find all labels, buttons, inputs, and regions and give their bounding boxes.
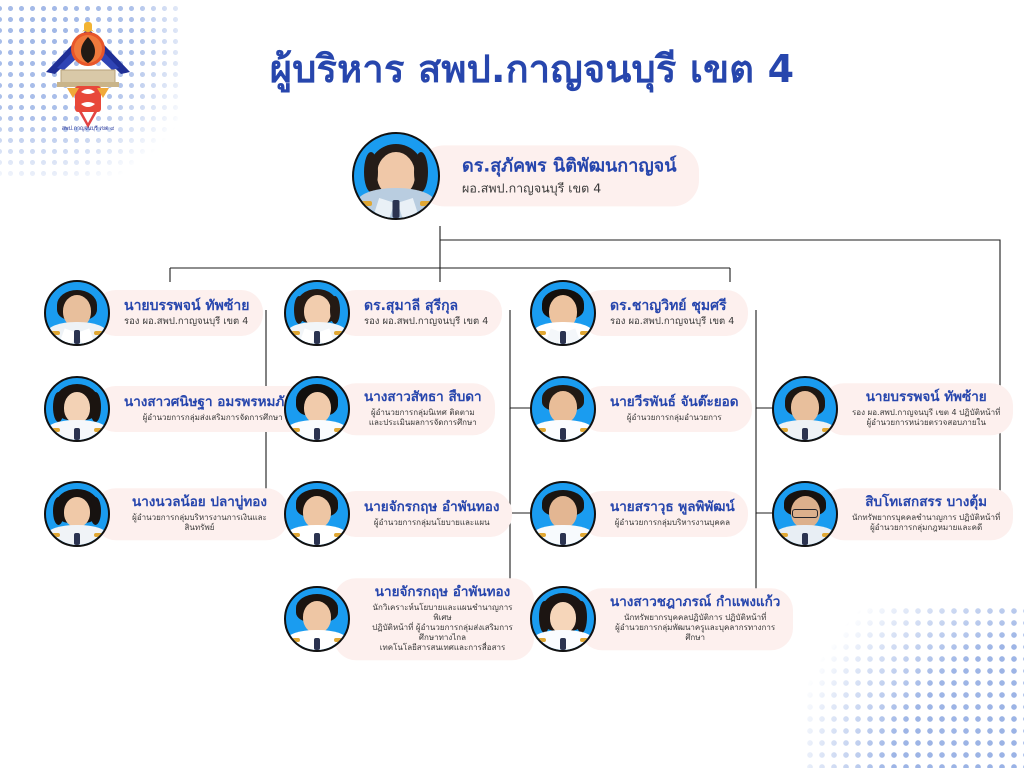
column-d-2-plate: สิบโทเสกสรร บางตุ้ม นักทรัพยากรบุคคลชำนา… bbox=[822, 488, 1013, 540]
page-title: ผู้บริหาร สพป.กาญจนบุรี เขต 4 bbox=[0, 38, 1024, 99]
column-b-1-photo bbox=[284, 376, 350, 442]
leader-card[interactable]: ดร.สุภัคพร นิติพัฒนกาญจน์ ผอ.สพป.กาญจนบุ… bbox=[352, 130, 692, 222]
column-d-2-photo bbox=[772, 481, 838, 547]
column-a-1-name: นางสาวศนิษฐา อมรพรหมภักดี bbox=[124, 395, 301, 411]
column-b-1-role: ผู้อำนวยการกลุ่มนิเทศ ติดตาม และประเมินผ… bbox=[369, 408, 477, 428]
column-a-2-role: ผู้อำนวยการกลุ่มบริหารงานการเงินและสินทร… bbox=[124, 513, 275, 533]
column-c-1-photo bbox=[530, 376, 596, 442]
column-a-1-photo bbox=[44, 376, 110, 442]
deputy-3-photo bbox=[530, 280, 596, 346]
column-b-3-name: นายจักรกฤษ อำพันทอง bbox=[375, 585, 510, 601]
deputy-2-role: รอง ผอ.สพป.กาญจนบุรี เขต 4 bbox=[364, 316, 488, 328]
deputy-card-1[interactable]: นายบรรพจน์ ทัพซ้าย รอง ผอ.สพป.กาญจนบุรี … bbox=[44, 278, 280, 348]
column-c-1-plate: นายวีรพันธ์ จันต๊ะยอด ผู้อำนวยการกลุ่มอำ… bbox=[580, 386, 752, 432]
deputy-3-role: รอง ผอ.สพป.กาญจนบุรี เขต 4 bbox=[610, 316, 734, 328]
deputy-1-plate: นายบรรพจน์ ทัพซ้าย รอง ผอ.สพป.กาญจนบุรี … bbox=[94, 290, 263, 336]
deputy-3-name: ดร.ชาญวิทย์ ชุมศรี bbox=[610, 298, 734, 314]
column-c-2-plate: นายสราวุธ พูลพิพัฒน์ ผู้อำนวยการกลุ่มบริ… bbox=[580, 491, 748, 537]
column-d-2-name: สิบโทเสกสรร บางตุ้ม bbox=[865, 495, 987, 511]
column-c-2-name: นายสราวุธ พูลพิพัฒน์ bbox=[610, 500, 735, 516]
column-a-1-role: ผู้อำนวยการกลุ่มส่งเสริมการจัดการศึกษา bbox=[143, 413, 283, 423]
column-c-1-role: ผู้อำนวยการกลุ่มอำนวยการ bbox=[627, 413, 722, 423]
column-b-card-3[interactable]: นายจักรกฤษ อำพันทอง นักวิเคราะห์นโยบายแล… bbox=[284, 584, 534, 654]
column-c-card-2[interactable]: นายสราวุธ พูลพิพัฒน์ ผู้อำนวยการกลุ่มบริ… bbox=[530, 481, 774, 547]
column-c-3-role: นักทรัพยากรบุคคลปฏิบัติการ ปฏิบัติหน้าที… bbox=[610, 613, 780, 643]
column-a-2-photo bbox=[44, 481, 110, 547]
column-b-2-name: นายจักรกฤษ อำพันทอง bbox=[364, 500, 499, 516]
column-d-1-name: นายบรรพจน์ ทัพซ้าย bbox=[866, 390, 987, 406]
column-d-card-1[interactable]: นายบรรพจน์ ทัพซ้าย รอง ผอ.สพป.กาญจนบุรี … bbox=[772, 376, 1016, 442]
column-c-2-photo bbox=[530, 481, 596, 547]
column-a-1-plate: นางสาวศนิษฐา อมรพรหมภักดี ผู้อำนวยการกลุ… bbox=[94, 386, 314, 432]
column-c-card-3[interactable]: นางสาวชฎาภรณ์ กำแพงแก้ว นักทรัพยากรบุคคล… bbox=[530, 584, 780, 654]
svg-text:สพป.กาญจนบุรี เขต ๔: สพป.กาญจนบุรี เขต ๔ bbox=[62, 125, 115, 132]
column-a-card-2[interactable]: นางนวลน้อย ปลาบู่ทอง ผู้อำนวยการกลุ่มบริ… bbox=[44, 481, 288, 547]
column-c-card-1[interactable]: นายวีรพันธ์ จันต๊ะยอด ผู้อำนวยการกลุ่มอำ… bbox=[530, 376, 774, 442]
deputy-card-3[interactable]: ดร.ชาญวิทย์ ชุมศรี รอง ผอ.สพป.กาญจนบุรี … bbox=[530, 278, 756, 348]
column-d-2-role: นักทรัพยากรบุคคลชำนาญการ ปฏิบัติหน้าที่ … bbox=[852, 513, 1000, 533]
deputy-card-2[interactable]: ดร.สุมาลี สุรีกุล รอง ผอ.สพป.กาญจนบุรี เ… bbox=[284, 278, 510, 348]
org-chart-page: สพป.กาญจนบุรี เขต ๔ ผู้บริหาร สพป.กาญจนบ… bbox=[0, 0, 1024, 768]
column-c-3-photo bbox=[530, 586, 596, 652]
column-b-1-plate: นางสาวสัทธา สืบดา ผู้อำนวยการกลุ่มนิเทศ … bbox=[334, 383, 495, 435]
deputy-2-plate: ดร.สุมาลี สุรีกุล รอง ผอ.สพป.กาญจนบุรี เ… bbox=[334, 290, 502, 336]
column-b-2-role: ผู้อำนวยการกลุ่มนโยบายและแผน bbox=[374, 518, 490, 528]
leader-role: ผอ.สพป.กาญจนบุรี เขต 4 bbox=[462, 180, 677, 196]
column-b-2-plate: นายจักรกฤษ อำพันทอง ผู้อำนวยการกลุ่มนโยบ… bbox=[334, 491, 512, 537]
column-c-2-role: ผู้อำนวยการกลุ่มบริหารงานบุคคล bbox=[615, 518, 730, 528]
leader-photo bbox=[352, 132, 440, 220]
column-b-1-name: นางสาวสัทธา สืบดา bbox=[364, 390, 482, 406]
column-c-3-name: นางสาวชฎาภรณ์ กำแพงแก้ว bbox=[610, 595, 780, 611]
column-b-3-plate: นายจักรกฤษ อำพันทอง นักวิเคราะห์นโยบายแล… bbox=[334, 578, 534, 660]
deputy-1-photo bbox=[44, 280, 110, 346]
deputy-1-name: นายบรรพจน์ ทัพซ้าย bbox=[124, 298, 249, 314]
column-b-card-1[interactable]: นางสาวสัทธา สืบดา ผู้อำนวยการกลุ่มนิเทศ … bbox=[284, 374, 534, 444]
deputy-2-photo bbox=[284, 280, 350, 346]
column-b-card-2[interactable]: นายจักรกฤษ อำพันทอง ผู้อำนวยการกลุ่มนโยบ… bbox=[284, 481, 534, 547]
column-c-3-plate: นางสาวชฎาภรณ์ กำแพงแก้ว นักทรัพยากรบุคคล… bbox=[580, 588, 793, 650]
column-d-1-plate: นายบรรพจน์ ทัพซ้าย รอง ผอ.สพป.กาญจนบุรี … bbox=[822, 383, 1013, 435]
deputy-3-plate: ดร.ชาญวิทย์ ชุมศรี รอง ผอ.สพป.กาญจนบุรี … bbox=[580, 290, 748, 336]
column-a-2-plate: นางนวลน้อย ปลาบู่ทอง ผู้อำนวยการกลุ่มบริ… bbox=[94, 488, 288, 540]
column-b-2-photo bbox=[284, 481, 350, 547]
column-d-1-role: รอง ผอ.สพป.กาญจนบุรี เขต 4 ปฏิบัติหน้าที… bbox=[852, 408, 1000, 428]
column-b-3-role: นักวิเคราะห์นโยบายและแผนชำนาญการพิเศษ ปฏ… bbox=[364, 603, 521, 653]
leader-name: ดร.สุภัคพร นิติพัฒนกาญจน์ bbox=[462, 156, 677, 177]
deputy-2-name: ดร.สุมาลี สุรีกุล bbox=[364, 298, 488, 314]
column-c-1-name: นายวีรพันธ์ จันต๊ะยอด bbox=[610, 395, 739, 411]
halftone-dots-bottom-right bbox=[804, 605, 1024, 768]
column-d-card-2[interactable]: สิบโทเสกสรร บางตุ้ม นักทรัพยากรบุคคลชำนา… bbox=[772, 481, 1016, 547]
column-a-2-name: นางนวลน้อย ปลาบู่ทอง bbox=[132, 495, 267, 511]
leader-plate: ดร.สุภัคพร นิติพัฒนกาญจน์ ผอ.สพป.กาญจนบุ… bbox=[418, 145, 699, 206]
deputy-1-role: รอง ผอ.สพป.กาญจนบุรี เขต 4 bbox=[124, 316, 249, 328]
column-d-1-photo bbox=[772, 376, 838, 442]
column-b-3-photo bbox=[284, 586, 350, 652]
column-a-card-1[interactable]: นางสาวศนิษฐา อมรพรหมภักดี ผู้อำนวยการกลุ… bbox=[44, 376, 288, 442]
